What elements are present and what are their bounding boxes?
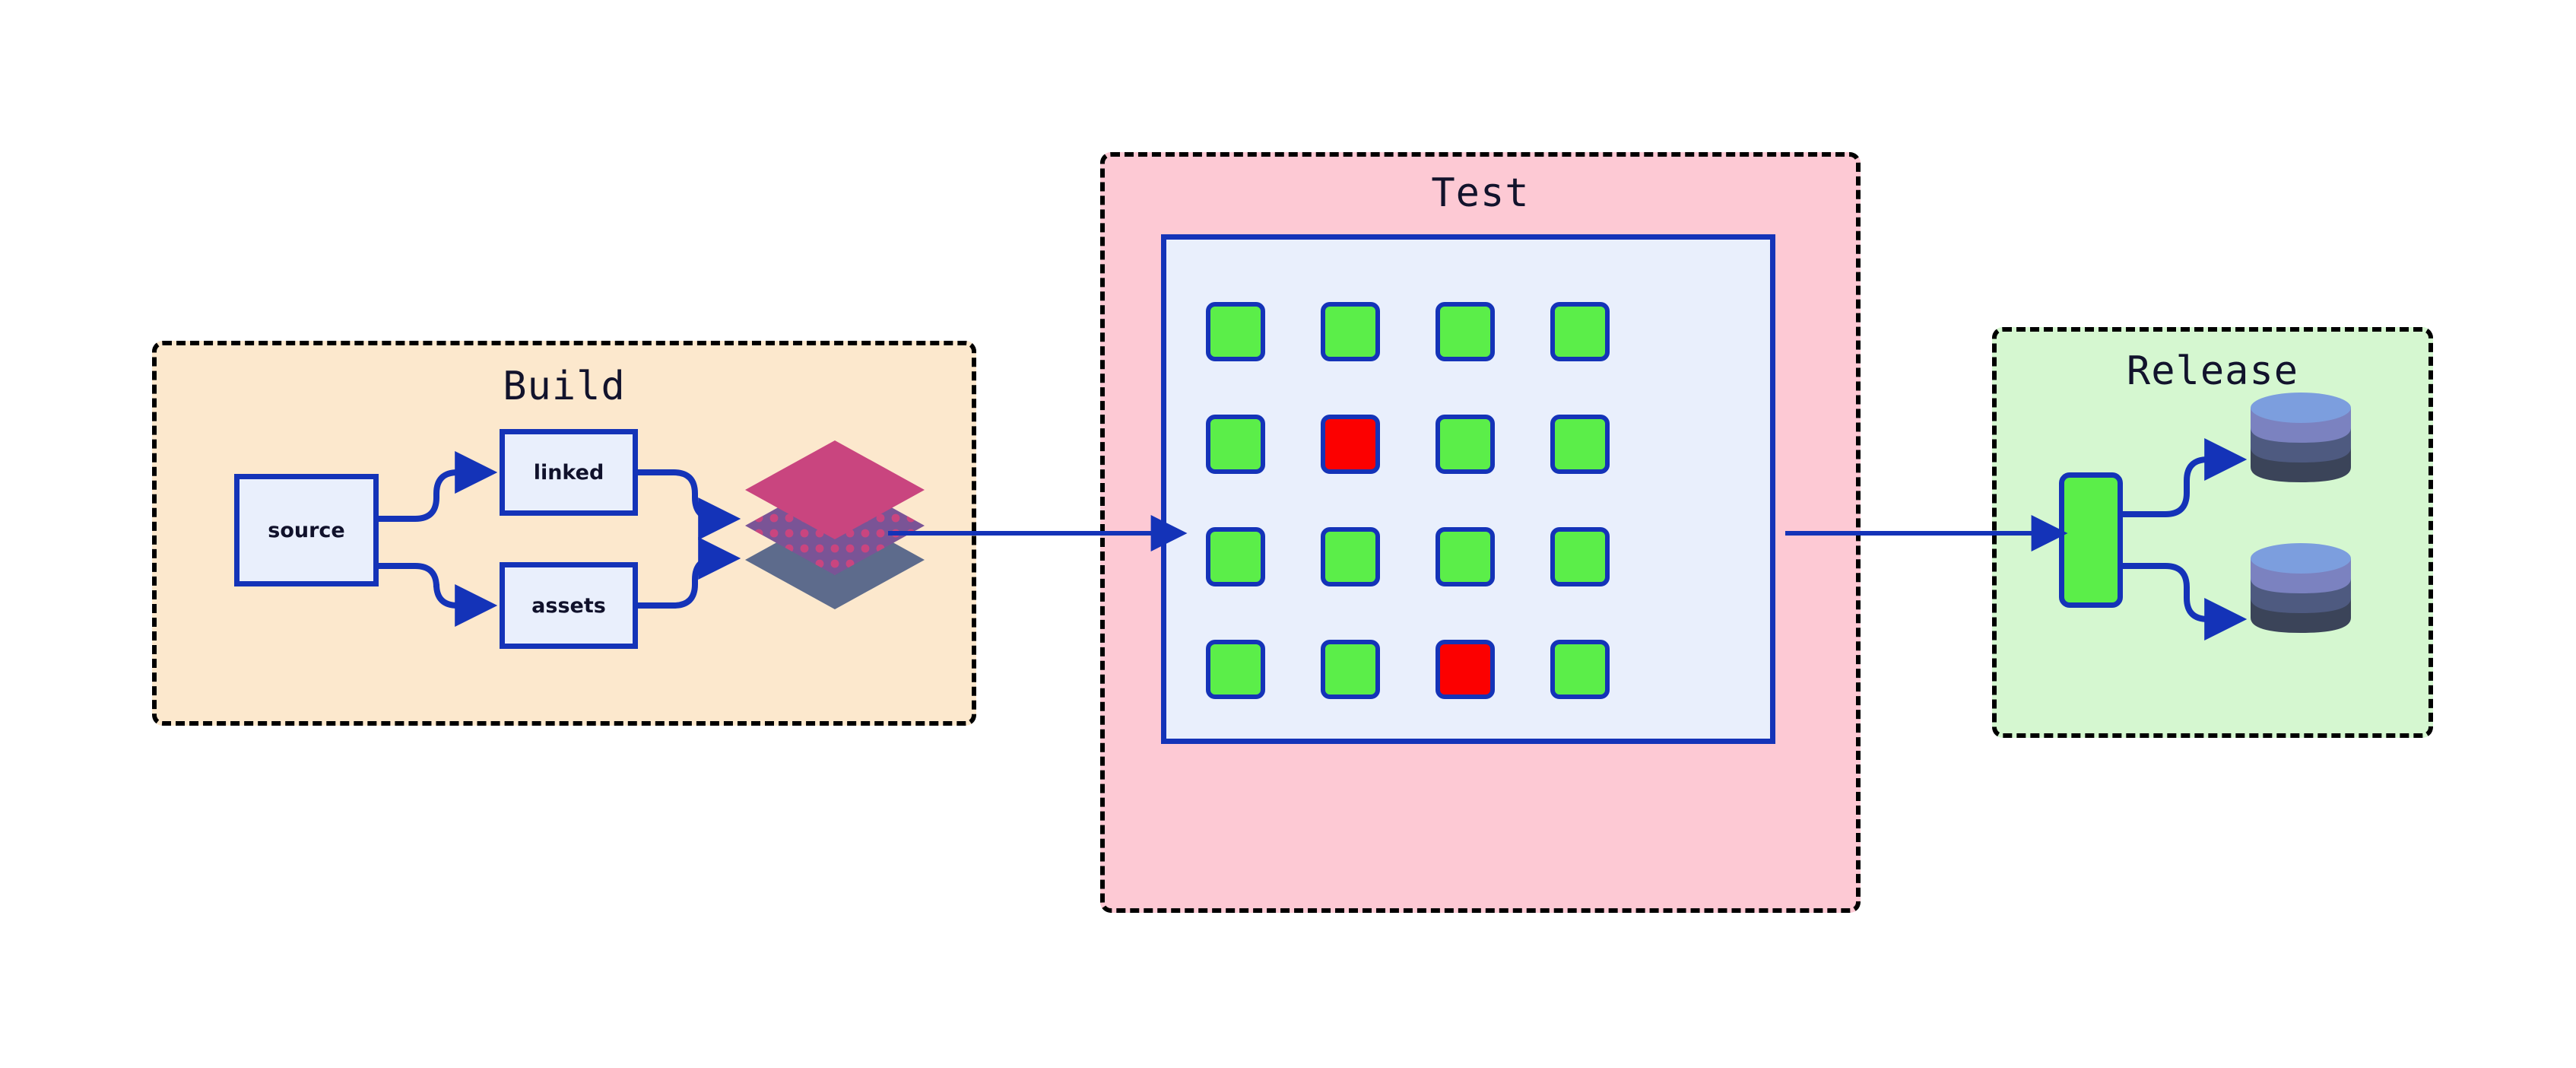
stage-connectors [0, 0, 2576, 1068]
